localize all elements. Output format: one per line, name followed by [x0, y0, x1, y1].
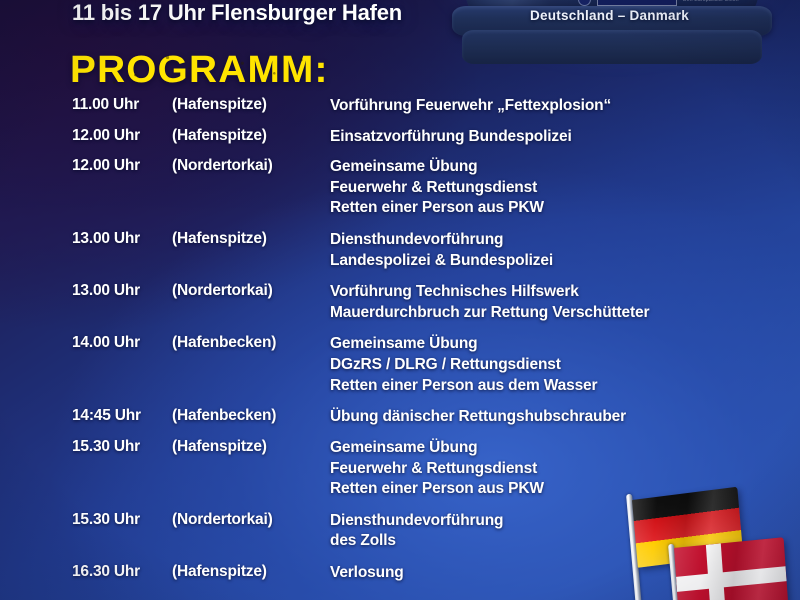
schedule-description: Vorführung Feuerwehr „Fettexplosion“: [330, 96, 772, 117]
schedule-description-line: Gemeinsame Übung: [330, 157, 772, 178]
schedule-location: (Hafenspitze): [172, 438, 330, 456]
schedule-row: 12.00 Uhr(Hafenspitze)Einsatzvorführung …: [72, 127, 772, 148]
beacon-base: [462, 30, 762, 64]
schedule-location: (Nordertorkai): [172, 157, 330, 175]
schedule-time: 15.30 Uhr: [72, 438, 172, 456]
schedule-description-line: Mauerdurchbruch zur Rettung Verschüttete…: [330, 303, 772, 324]
schedule-description-line: Feuerwehr & Rettungsdienst: [330, 459, 772, 480]
schedule-description: Übung dänischer Rettungshubschrauber: [330, 407, 772, 428]
page-headline: 11 bis 17 Uhr Flensburger Hafen: [72, 0, 402, 26]
schedule-row: 13.00 Uhr(Nordertorkai)Vorführung Techni…: [72, 282, 772, 323]
schedule-description-line: Landespolizei & Bundespolizei: [330, 251, 772, 272]
schedule-location: (Hafenspitze): [172, 563, 330, 581]
schedule-location: (Nordertorkai): [172, 282, 330, 300]
schedule-location: (Nordertorkai): [172, 511, 330, 529]
danish-cross-vertical: [706, 543, 726, 600]
schedule-description: Vorführung Technisches HilfswerkMauerdur…: [330, 282, 772, 323]
schedule-description-line: Übung dänischer Rettungshubschrauber: [330, 407, 772, 428]
page-title: PROGRAMM:: [70, 51, 329, 89]
eu-logo-text: Den Europæiske Union: [683, 0, 739, 6]
schedule-description-line: DGzRS / DLRG / Rettungsdienst: [330, 355, 772, 376]
schedule-location: (Hafenspitze): [172, 230, 330, 248]
beacon-caption: Deutschland – Danmark: [530, 8, 689, 23]
schedule-time: 15.30 Uhr: [72, 511, 172, 529]
page-title-text: PROGRAMM:: [70, 49, 329, 91]
eu-logo-icon: Den Europæiske Union: [578, 0, 788, 6]
schedule-description: Gemeinsame ÜbungFeuerwehr & Rettungsdien…: [330, 157, 772, 219]
schedule-description-line: Gemeinsame Übung: [330, 438, 772, 459]
schedule-time: 12.00 Uhr: [72, 157, 172, 175]
schedule-row: 14.00 Uhr(Hafenbecken)Gemeinsame ÜbungDG…: [72, 334, 772, 396]
schedule-time: 14:45 Uhr: [72, 407, 172, 425]
schedule-time: 11.00 Uhr: [72, 96, 172, 114]
schedule-description-line: Vorführung Feuerwehr „Fettexplosion“: [330, 96, 772, 117]
schedule-description-line: Einsatzvorführung Bundespolizei: [330, 127, 772, 148]
schedule-description-line: Diensthundevorführung: [330, 230, 772, 251]
schedule-description-line: Feuerwehr & Rettungsdienst: [330, 178, 772, 199]
schedule-row: 13.00 Uhr(Hafenspitze)Diensthundevorführ…: [72, 230, 772, 271]
schedule-location: (Hafenspitze): [172, 127, 330, 145]
schedule-row: 11.00 Uhr(Hafenspitze)Vorführung Feuerwe…: [72, 96, 772, 117]
schedule-time: 14.00 Uhr: [72, 334, 172, 352]
event-poster: Den Europæiske Union Deutschland – Danma…: [0, 0, 800, 600]
schedule-description-line: Retten einer Person aus dem Wasser: [330, 376, 772, 397]
schedule-time: 13.00 Uhr: [72, 230, 172, 248]
schedule-time: 12.00 Uhr: [72, 127, 172, 145]
schedule-description: Einsatzvorführung Bundespolizei: [330, 127, 772, 148]
schedule-row: 12.00 Uhr(Nordertorkai)Gemeinsame ÜbungF…: [72, 157, 772, 219]
flags-graphic: [606, 486, 800, 600]
schedule-description-line: Retten einer Person aus PKW: [330, 198, 772, 219]
schedule-description: Gemeinsame ÜbungDGzRS / DLRG / Rettungsd…: [330, 334, 772, 396]
schedule-description: DiensthundevorführungLandespolizei & Bun…: [330, 230, 772, 271]
danish-cross-horizontal: [676, 566, 787, 592]
schedule-description-line: Gemeinsame Übung: [330, 334, 772, 355]
schedule-location: (Hafenspitze): [172, 96, 330, 114]
schedule-time: 16.30 Uhr: [72, 563, 172, 581]
schedule-location: (Hafenbecken): [172, 334, 330, 352]
schedule-row: 14:45 Uhr(Hafenbecken)Übung dänischer Re…: [72, 407, 772, 428]
danish-flag-icon: [674, 537, 789, 600]
schedule-description-line: Vorführung Technisches Hilfswerk: [330, 282, 772, 303]
eu-circle-icon: [578, 0, 591, 6]
schedule-time: 13.00 Uhr: [72, 282, 172, 300]
schedule-location: (Hafenbecken): [172, 407, 330, 425]
eu-flag-icon: [597, 0, 677, 6]
